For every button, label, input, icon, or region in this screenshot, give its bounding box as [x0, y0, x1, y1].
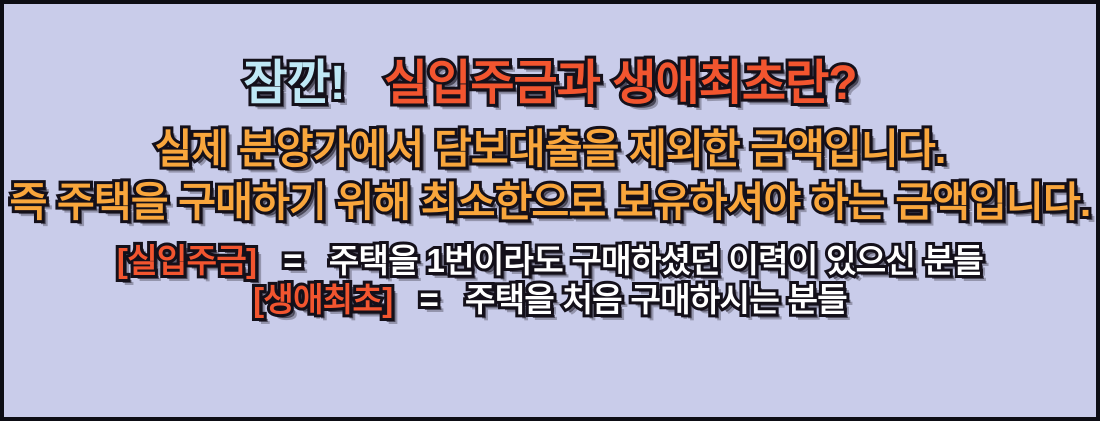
- info-card: 잠깐! 잠깐! 실입주금과 생애최초란? 실입주금과 생애최초란? 실제 분양가…: [0, 0, 1100, 421]
- definition-1-equals-text: =: [283, 242, 302, 279]
- title-attention: 잠깐! 잠깐!: [243, 60, 344, 108]
- definition-2-term-text: [생애최초]: [253, 281, 392, 318]
- definition-line-1: [실입주금] [실입주금] = = 주택을 1번이라도 구매하셨던 이력이 있으…: [4, 244, 1096, 277]
- description-line-2: 즉 주택을 구매하기 위해 최소한으로 보유하셔야 하는 금액입니다. 즉 주택…: [4, 182, 1096, 223]
- description-line-1: 실제 분양가에서 담보대출을 제외한 금액입니다. 실제 분양가에서 담보대출을…: [4, 129, 1096, 170]
- definition-1-term-text: [실입주금]: [117, 242, 256, 279]
- description-2-text: 즉 주택을 구매하기 위해 최소한으로 보유하셔야 하는 금액입니다.: [10, 179, 1091, 225]
- description-1: 실제 분양가에서 담보대출을 제외한 금액입니다. 실제 분양가에서 담보대출을…: [155, 129, 946, 170]
- title-line: 잠깐! 잠깐! 실입주금과 생애최초란? 실입주금과 생애최초란?: [4, 60, 1096, 108]
- definition-1-meaning: 주택을 1번이라도 구매하셨던 이력이 있으신 분들 주택을 1번이라도 구매하…: [329, 244, 983, 277]
- title-question: 실입주금과 생애최초란? 실입주금과 생애최초란?: [384, 60, 857, 108]
- definition-1-equals: = =: [283, 244, 302, 277]
- description-1-text: 실제 분양가에서 담보대출을 제외한 금액입니다.: [155, 126, 946, 172]
- definition-2-term: [생애최초] [생애최초]: [253, 283, 392, 316]
- title-attention-text: 잠깐!: [243, 57, 344, 110]
- definition-line-2: [생애최초] [생애최초] = = 주택을 처음 구매하시는 분들 주택을 처음…: [4, 283, 1096, 316]
- definition-1-meaning-text: 주택을 1번이라도 구매하셨던 이력이 있으신 분들: [329, 242, 983, 279]
- definition-1-term: [실입주금] [실입주금]: [117, 244, 256, 277]
- definition-2-meaning-text: 주택을 처음 구매하시는 분들: [465, 281, 847, 318]
- definition-2-equals: = =: [419, 283, 438, 316]
- description-2: 즉 주택을 구매하기 위해 최소한으로 보유하셔야 하는 금액입니다. 즉 주택…: [10, 182, 1091, 223]
- definition-2-equals-text: =: [419, 281, 438, 318]
- text-block: 잠깐! 잠깐! 실입주금과 생애최초란? 실입주금과 생애최초란? 실제 분양가…: [4, 60, 1096, 316]
- definition-2-meaning: 주택을 처음 구매하시는 분들 주택을 처음 구매하시는 분들: [465, 283, 847, 316]
- title-question-text: 실입주금과 생애최초란?: [384, 57, 857, 110]
